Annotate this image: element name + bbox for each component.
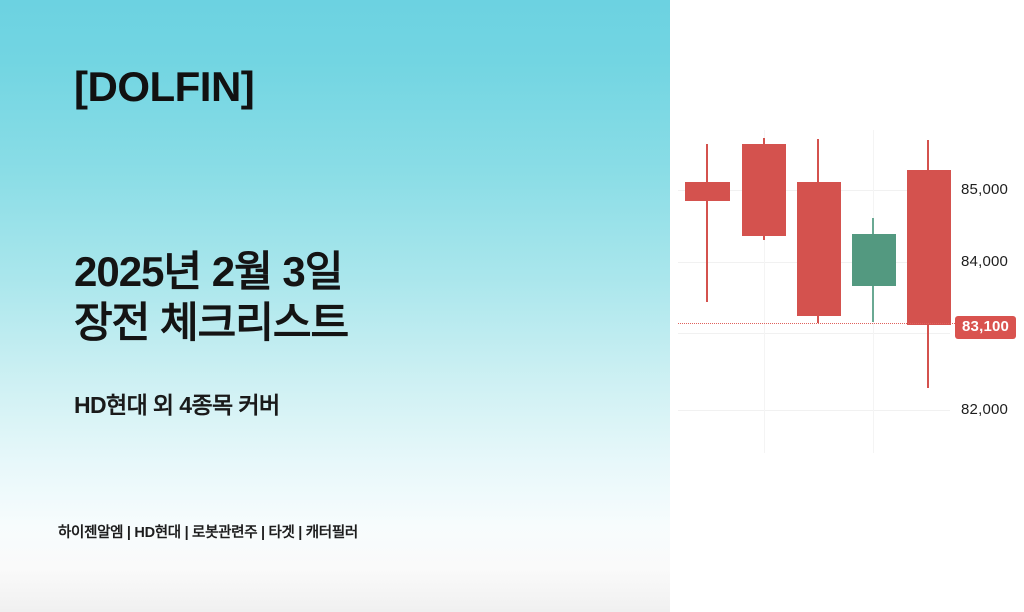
title-panel: [DOLFIN] 2025년 2월 3일 장전 체크리스트 HD현대 외 4종목… (0, 0, 670, 612)
slide-canvas: [DOLFIN] 2025년 2월 3일 장전 체크리스트 HD현대 외 4종목… (0, 0, 1024, 612)
candlestick-chart-panel: 85,000 84,000 83,000 82,000 83,100 (670, 0, 1024, 612)
candle-body-3 (797, 182, 841, 316)
last-price-badge: 83,100 (955, 316, 1016, 339)
chart-plot-area: 85,000 84,000 83,000 82,000 83,100 (670, 0, 1024, 612)
headline-line-1: 2025년 2월 3일 (74, 248, 342, 295)
candle-wick-1 (706, 144, 708, 302)
gridline-horizontal-83000 (678, 333, 950, 334)
y-axis-label-82000: 82,000 (961, 401, 1008, 418)
gridline-horizontal-82000 (678, 410, 950, 411)
y-axis-label-84000: 84,000 (961, 253, 1008, 270)
candle-body-2 (742, 144, 786, 236)
brand-title: [DOLFIN] (74, 64, 254, 110)
y-axis-label-85000: 85,000 (961, 181, 1008, 198)
candle-body-4 (852, 234, 896, 286)
candle-body-5 (907, 170, 951, 325)
subtitle: HD현대 외 4종목 커버 (74, 386, 280, 420)
page-title: 2025년 2월 3일 장전 체크리스트 (74, 246, 348, 348)
candle-body-1 (685, 182, 730, 201)
last-price-line (678, 323, 955, 324)
headline-line-2: 장전 체크리스트 (74, 297, 348, 348)
ticker-list: 하이젠알엠 | HD현대 | 로봇관련주 | 타겟 | 캐터필러 (58, 521, 358, 542)
